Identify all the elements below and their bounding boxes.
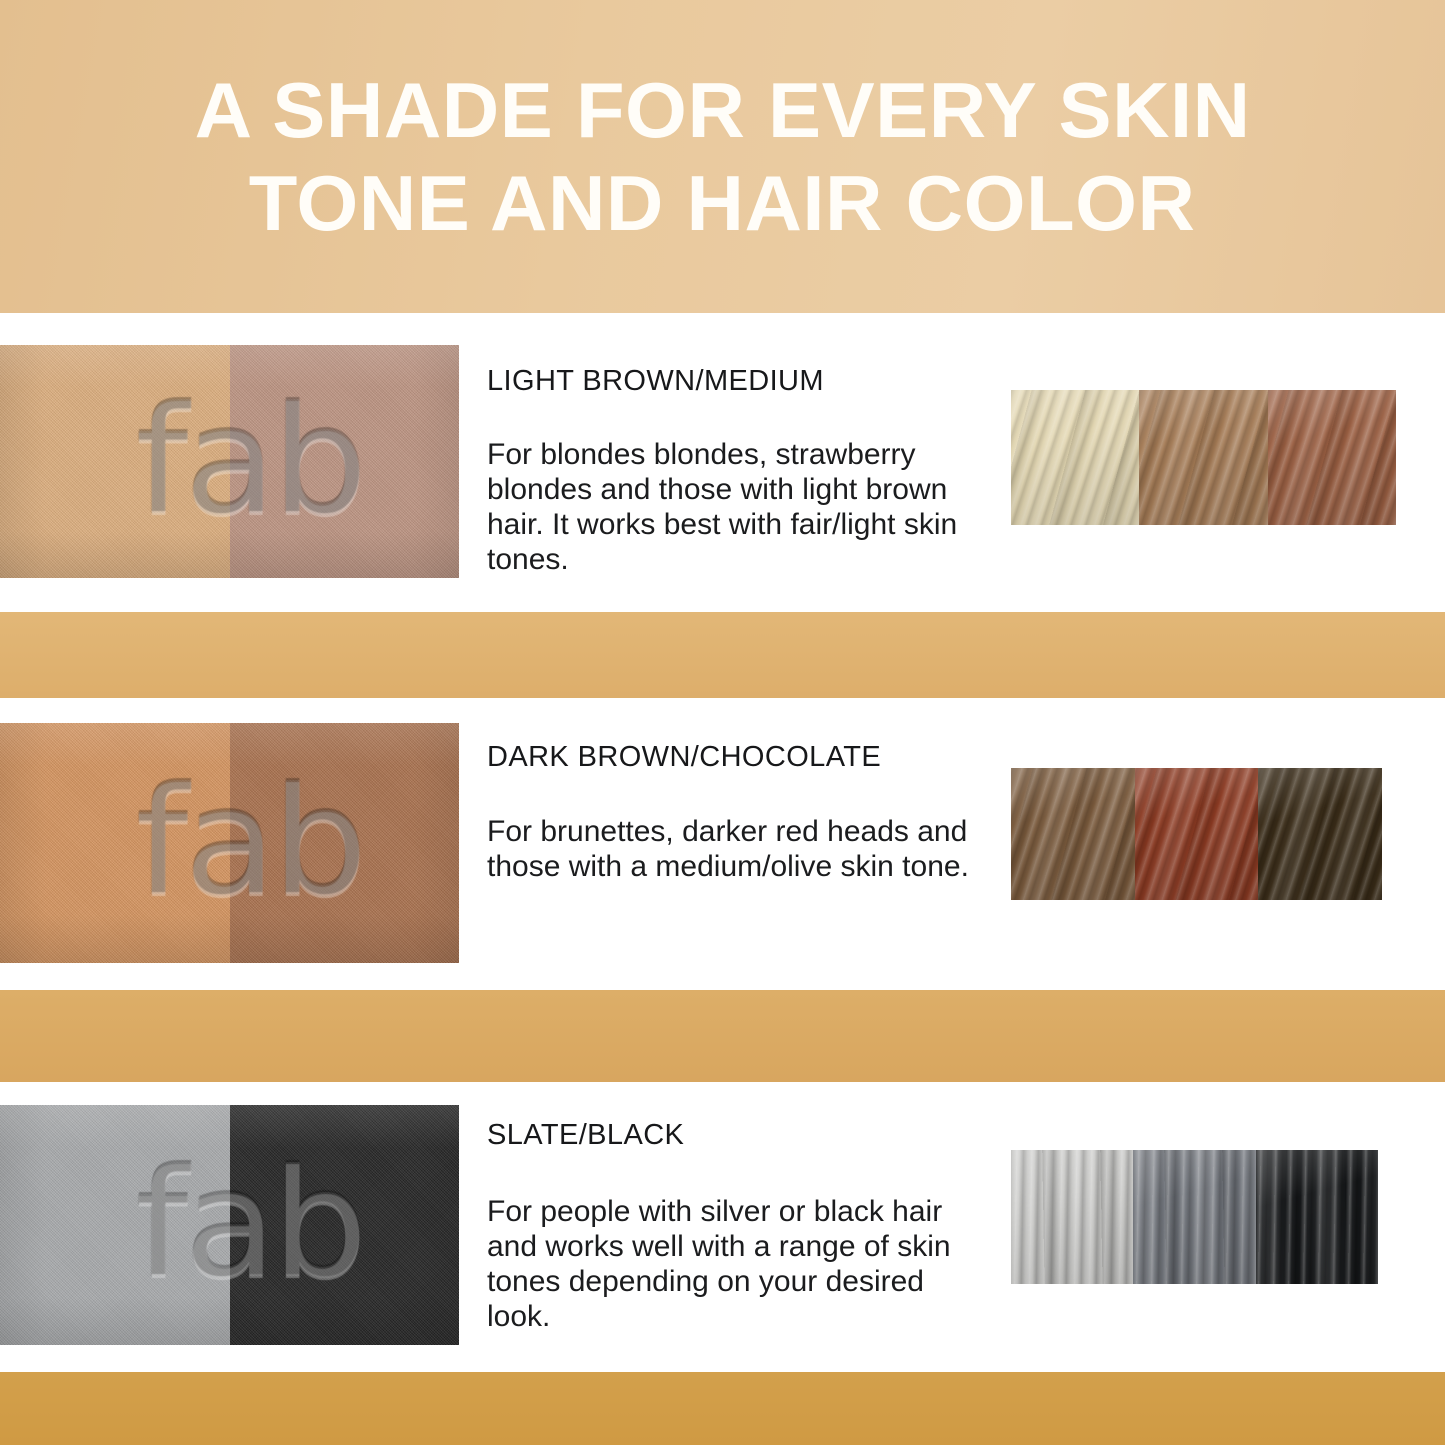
hair-swatch-group <box>1011 1150 1378 1284</box>
pan-half-left <box>0 345 230 578</box>
shade-row-light-brown-medium: fab LIGHT BROWN/MEDIUM For blondes blond… <box>0 345 1445 578</box>
shade-text-block: DARK BROWN/CHOCOLATE For brunettes, dark… <box>487 723 987 884</box>
page-title-line-2: TONE AND HAIR COLOR <box>249 157 1196 249</box>
header-banner: A SHADE FOR EVERY SKIN TONE AND HAIR COL… <box>0 0 1445 313</box>
powder-pan-dark-brown-chocolate: fab <box>0 723 459 963</box>
footer-bar <box>0 1372 1445 1445</box>
hair-swatch-silver-white <box>1011 1150 1133 1284</box>
shade-row-slate-black: fab SLATE/BLACK For people with silver o… <box>0 1105 1445 1345</box>
shade-row-dark-brown-chocolate: fab DARK BROWN/CHOCOLATE For brunettes, … <box>0 723 1445 963</box>
shade-text-block: SLATE/BLACK For people with silver or bl… <box>487 1105 987 1334</box>
shade-text-block: LIGHT BROWN/MEDIUM For blondes blondes, … <box>487 345 987 577</box>
shade-guide-infographic: A SHADE FOR EVERY SKIN TONE AND HAIR COL… <box>0 0 1445 1445</box>
pan-half-right <box>230 1105 460 1345</box>
hair-swatch-golden-brown <box>1139 390 1267 525</box>
pan-half-right <box>230 345 460 578</box>
shade-name: LIGHT BROWN/MEDIUM <box>487 345 987 398</box>
powder-pan-slate-black: fab <box>0 1105 459 1345</box>
hair-swatch-black <box>1256 1150 1378 1284</box>
powder-pan-light-brown-medium: fab <box>0 345 459 578</box>
hair-swatch-medium-brown <box>1011 768 1135 900</box>
divider-bar-2 <box>0 990 1445 1082</box>
hair-swatch-gray-steel <box>1133 1150 1255 1284</box>
hair-swatch-pale-blonde <box>1011 390 1139 525</box>
hair-swatch-dark-brown <box>1258 768 1382 900</box>
shade-description: For blondes blondes, strawberry blondes … <box>487 398 987 577</box>
shade-description: For people with silver or black hair and… <box>487 1152 987 1334</box>
hair-swatch-auburn-copper <box>1268 390 1396 525</box>
hair-swatch-group <box>1011 768 1382 900</box>
hair-swatch-group <box>1011 390 1396 525</box>
page-title-line-1: A SHADE FOR EVERY SKIN <box>194 64 1250 156</box>
shade-description: For brunettes, darker red heads and thos… <box>487 774 987 884</box>
shade-name: SLATE/BLACK <box>487 1105 987 1152</box>
pan-half-left <box>0 1105 230 1345</box>
pan-half-right <box>230 723 460 963</box>
pan-half-left <box>0 723 230 963</box>
divider-bar-1 <box>0 612 1445 698</box>
hair-swatch-red-auburn <box>1135 768 1259 900</box>
shade-name: DARK BROWN/CHOCOLATE <box>487 723 987 774</box>
